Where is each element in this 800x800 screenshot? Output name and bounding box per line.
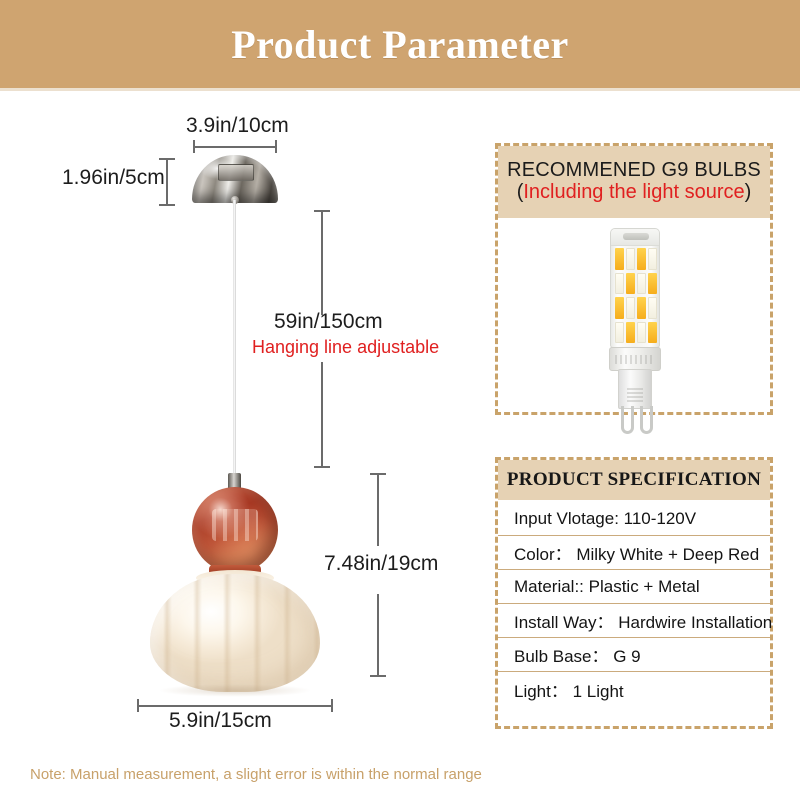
recommended-bulb-title-line1: RECOMMENED G9 BULBS (507, 159, 761, 181)
dim-cap-canopy-height-bottom (159, 204, 175, 206)
bulb-glass-cap (611, 229, 659, 246)
g9-led-bulb (601, 228, 669, 400)
ball-highlight (212, 509, 258, 541)
dim-label-canopy-width: 3.9in/10cm (186, 114, 289, 138)
dim-label-shade-width: 5.9in/15cm (169, 709, 272, 733)
led-chip (637, 322, 646, 344)
dim-cap-fixture-top (370, 473, 386, 475)
hanging-cord (233, 200, 236, 475)
shade-ribs (150, 574, 320, 692)
bulb-neck (618, 369, 652, 409)
bulb-base-collar (609, 347, 661, 371)
spec-row-bulb-base: Bulb Base： G 9 (498, 638, 770, 672)
led-chip (615, 248, 624, 270)
dim-rule-cord-upper (321, 210, 323, 315)
dim-note-cord-adjustable: Hanging line adjustable (252, 337, 439, 358)
dim-label-canopy-height: 1.96in/5cm (62, 166, 165, 190)
dim-cap-shade-width-left (137, 699, 139, 712)
dim-cap-fixture-bottom (370, 675, 386, 677)
led-chip (648, 248, 657, 270)
led-chip (626, 273, 635, 295)
spec-row-input-voltage: Input Vlotage: 110-120V (498, 502, 770, 536)
product-parameter-infographic: Product Parameter 3.9in/10cm 1.96in/5cm … (0, 0, 800, 800)
spec-row-color: Color： Milky White + Deep Red (498, 536, 770, 570)
including-light-source-text: Including the light source (523, 181, 744, 203)
spec-row-material: Material:: Plastic + Metal (498, 570, 770, 604)
dim-label-fixture-height: 7.48in/19cm (324, 552, 438, 576)
led-chip (615, 297, 624, 319)
deep-red-glass-ball (192, 487, 278, 573)
g9-pin-right (640, 406, 653, 434)
bulb-glass-body (610, 228, 660, 348)
g9-pin-left (621, 406, 634, 434)
led-chip (615, 273, 624, 295)
dim-rule-fixture-upper (377, 473, 379, 546)
recommended-bulb-title: RECOMMENED G9 BULBS (Including the light… (498, 146, 770, 218)
lamp-diagram: 3.9in/10cm 1.96in/5cm 59in/150cm Hanging… (0, 0, 500, 760)
led-chip (626, 248, 635, 270)
dim-rule-canopy-width (193, 146, 277, 148)
led-chip (626, 322, 635, 344)
footer-note: Note: Manual measurement, a slight error… (30, 766, 482, 783)
led-chip (615, 322, 624, 344)
dim-rule-shade-width (137, 705, 333, 707)
dim-cap-cord-bottom (314, 466, 330, 468)
spec-row-light: Light： 1 Light (498, 672, 770, 706)
dim-cap-canopy-width-left (193, 140, 195, 153)
bulb-led-grid (615, 248, 657, 343)
dim-cap-cord-top (314, 210, 330, 212)
spec-title-text: PRODUCT SPECIFICATION (507, 469, 761, 491)
dim-cap-canopy-width-right (275, 140, 277, 153)
led-chip (637, 248, 646, 270)
led-chip (648, 297, 657, 319)
recommended-bulb-title-line2: (Including the light source) (517, 181, 752, 205)
dim-cap-canopy-height-top (159, 158, 175, 160)
led-chip (637, 297, 646, 319)
dim-cap-shade-width-right (331, 699, 333, 712)
paren-close: ) (745, 181, 752, 203)
dim-rule-cord-lower (321, 362, 323, 468)
dim-label-cord-length: 59in/150cm (274, 310, 383, 334)
dim-rule-fixture-lower (377, 594, 379, 677)
led-chip (626, 297, 635, 319)
milky-white-ribbed-shade (150, 574, 320, 692)
dim-rule-canopy-height (166, 158, 168, 206)
led-chip (648, 322, 657, 344)
product-specification-box: PRODUCT SPECIFICATION Input Vlotage: 110… (495, 457, 773, 729)
spec-row-list: Input Vlotage: 110-120V Color： Milky Whi… (498, 502, 770, 706)
led-chip (648, 273, 657, 295)
spec-row-install-way: Install Way： Hardwire Installation (498, 604, 770, 638)
product-specification-title: PRODUCT SPECIFICATION (498, 460, 770, 500)
led-chip (637, 273, 646, 295)
shade-ground-shadow (158, 684, 312, 697)
